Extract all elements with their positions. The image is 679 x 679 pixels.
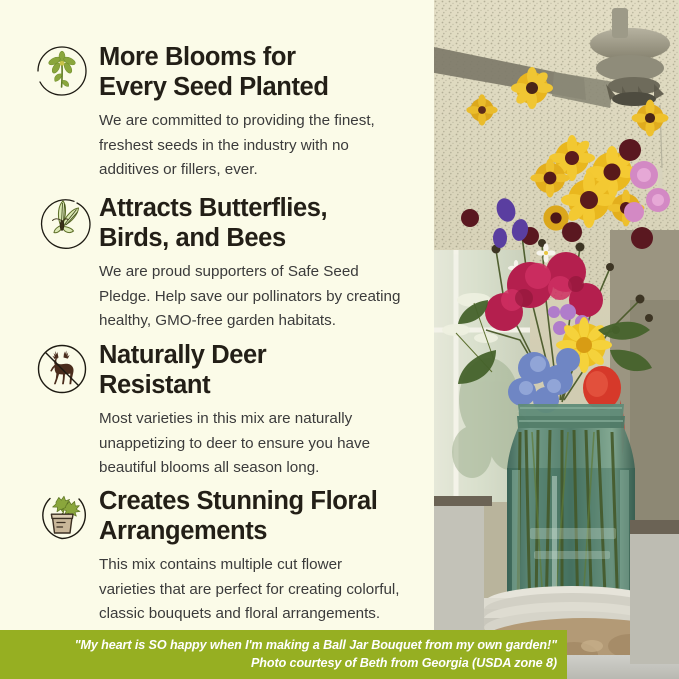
potted-plant-icon — [33, 486, 91, 544]
feature-title: Attracts Butterflies, Birds, and Bees — [99, 193, 421, 253]
feature-text: Creates Stunning Floral Arrangements Thi… — [99, 486, 421, 627]
product-feature-infographic: More Blooms for Every Seed Planted We ar… — [0, 0, 679, 679]
bouquet-photo — [434, 0, 679, 679]
feature-title: Creates Stunning Floral Arrangements — [99, 486, 421, 546]
feature-text: Attracts Butterflies, Birds, and Bees We… — [99, 193, 421, 334]
butterfly-icon — [33, 193, 91, 251]
feature-list: More Blooms for Every Seed Planted We ar… — [0, 0, 434, 679]
feature-description: We are proud supporters of Safe Seed Ple… — [99, 260, 421, 334]
caption-quote: "My heart is SO happy when I'm making a … — [0, 636, 557, 654]
flower-icon — [33, 42, 91, 100]
feature-title: More Blooms for Every Seed Planted — [99, 42, 421, 102]
photo-caption-bar: "My heart is SO happy when I'm making a … — [0, 630, 567, 679]
no-deer-icon — [33, 340, 91, 398]
feature-description: Most varieties in this mix are naturally… — [99, 407, 421, 481]
feature-text: Naturally Deer Resistant Most varieties … — [99, 340, 421, 481]
feature-description: We are committed to providing the finest… — [99, 109, 421, 183]
feature-title: Naturally Deer Resistant — [99, 340, 421, 400]
feature-description: This mix contains multiple cut flower va… — [99, 553, 421, 627]
feature-text: More Blooms for Every Seed Planted We ar… — [99, 42, 421, 183]
caption-credit: Photo courtesy of Beth from Georgia (USD… — [0, 654, 557, 672]
